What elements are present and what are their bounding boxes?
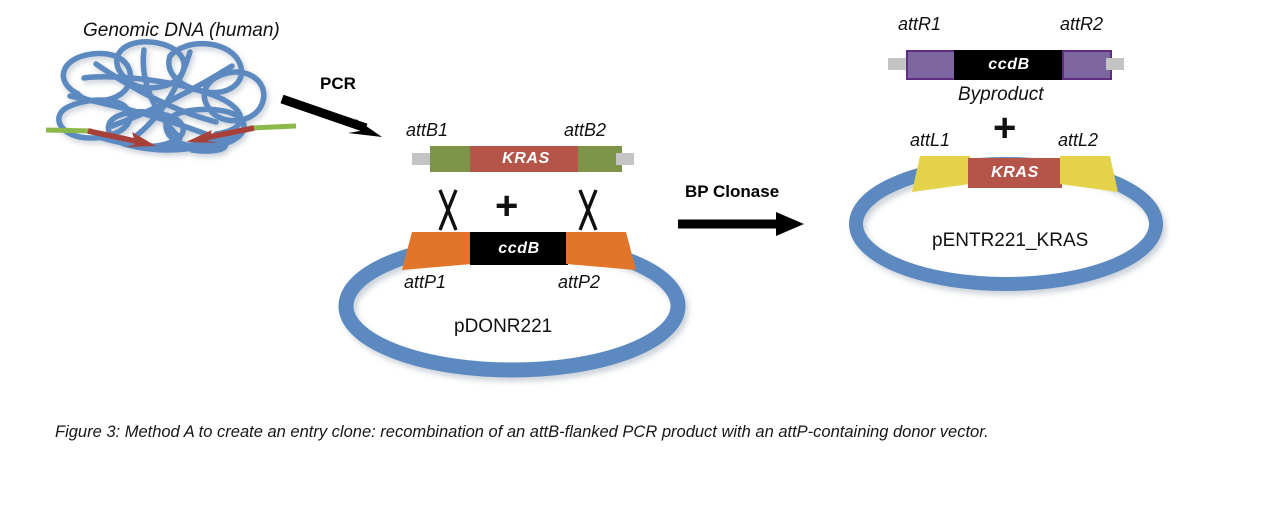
ccdb-label-byproduct: ccdB	[988, 56, 1030, 74]
kras-label-entry: KRAS	[991, 164, 1039, 182]
kras-label-pcr: KRAS	[502, 150, 550, 168]
ccdb-segment-byproduct: ccdB	[954, 50, 1064, 80]
attl2-label: attL2	[1058, 130, 1098, 151]
pcr-product-construct: attB1 attB2 KRAS	[412, 120, 634, 180]
attl2-box	[1056, 148, 1126, 198]
attb1-label: attB1	[406, 120, 448, 141]
pcr-arrow-icon	[280, 95, 390, 145]
attr2-label: attR2	[1060, 14, 1103, 35]
byproduct-backbone-right	[1106, 58, 1124, 70]
plus-sign-right: +	[993, 108, 1016, 148]
ccdb-segment-donor: ccdB	[470, 232, 568, 265]
attl1-label: attL1	[910, 130, 950, 151]
figure-caption: Figure 3: Method A to create an entry cl…	[55, 423, 989, 442]
ccdb-label-donor: ccdB	[498, 240, 540, 258]
attp1-box	[398, 226, 478, 278]
pentr221-kras-name: pENTR221_KRAS	[932, 230, 1088, 252]
attp2-box	[562, 226, 642, 278]
kras-segment-pcr: KRAS	[470, 146, 582, 172]
bp-clonase-arrow-icon	[676, 212, 808, 238]
reverse-primer	[168, 120, 298, 146]
attp1-label: attP1	[404, 272, 446, 293]
attp2-label: attP2	[558, 272, 600, 293]
kras-segment-entry: KRAS	[968, 158, 1062, 188]
byproduct-name: Byproduct	[958, 84, 1044, 106]
attr2-box	[1062, 50, 1112, 80]
pentr221-kras-plasmid: KRAS attL1 attL2 pENTR221_KRAS	[846, 152, 1166, 292]
pdonr221-plasmid: ccdB attP1 attP2 pDONR221	[336, 228, 688, 376]
pcr-step-label: PCR	[320, 74, 356, 94]
pdonr221-name: pDONR221	[454, 316, 552, 338]
pcr-backbone-left	[412, 153, 432, 165]
attr1-box	[906, 50, 956, 80]
forward-primer	[44, 122, 174, 148]
bp-clonase-step-label: BP Clonase	[685, 182, 779, 202]
attr1-label: attR1	[898, 14, 941, 35]
attb1-box	[430, 146, 474, 172]
plus-sign-left: +	[495, 186, 518, 226]
byproduct-construct: attR1 attR2 ccdB Byproduct	[888, 12, 1122, 102]
pcr-backbone-right	[616, 153, 634, 165]
attb2-label: attB2	[564, 120, 606, 141]
figure-canvas: Genomic DNA (human)	[0, 0, 1286, 508]
